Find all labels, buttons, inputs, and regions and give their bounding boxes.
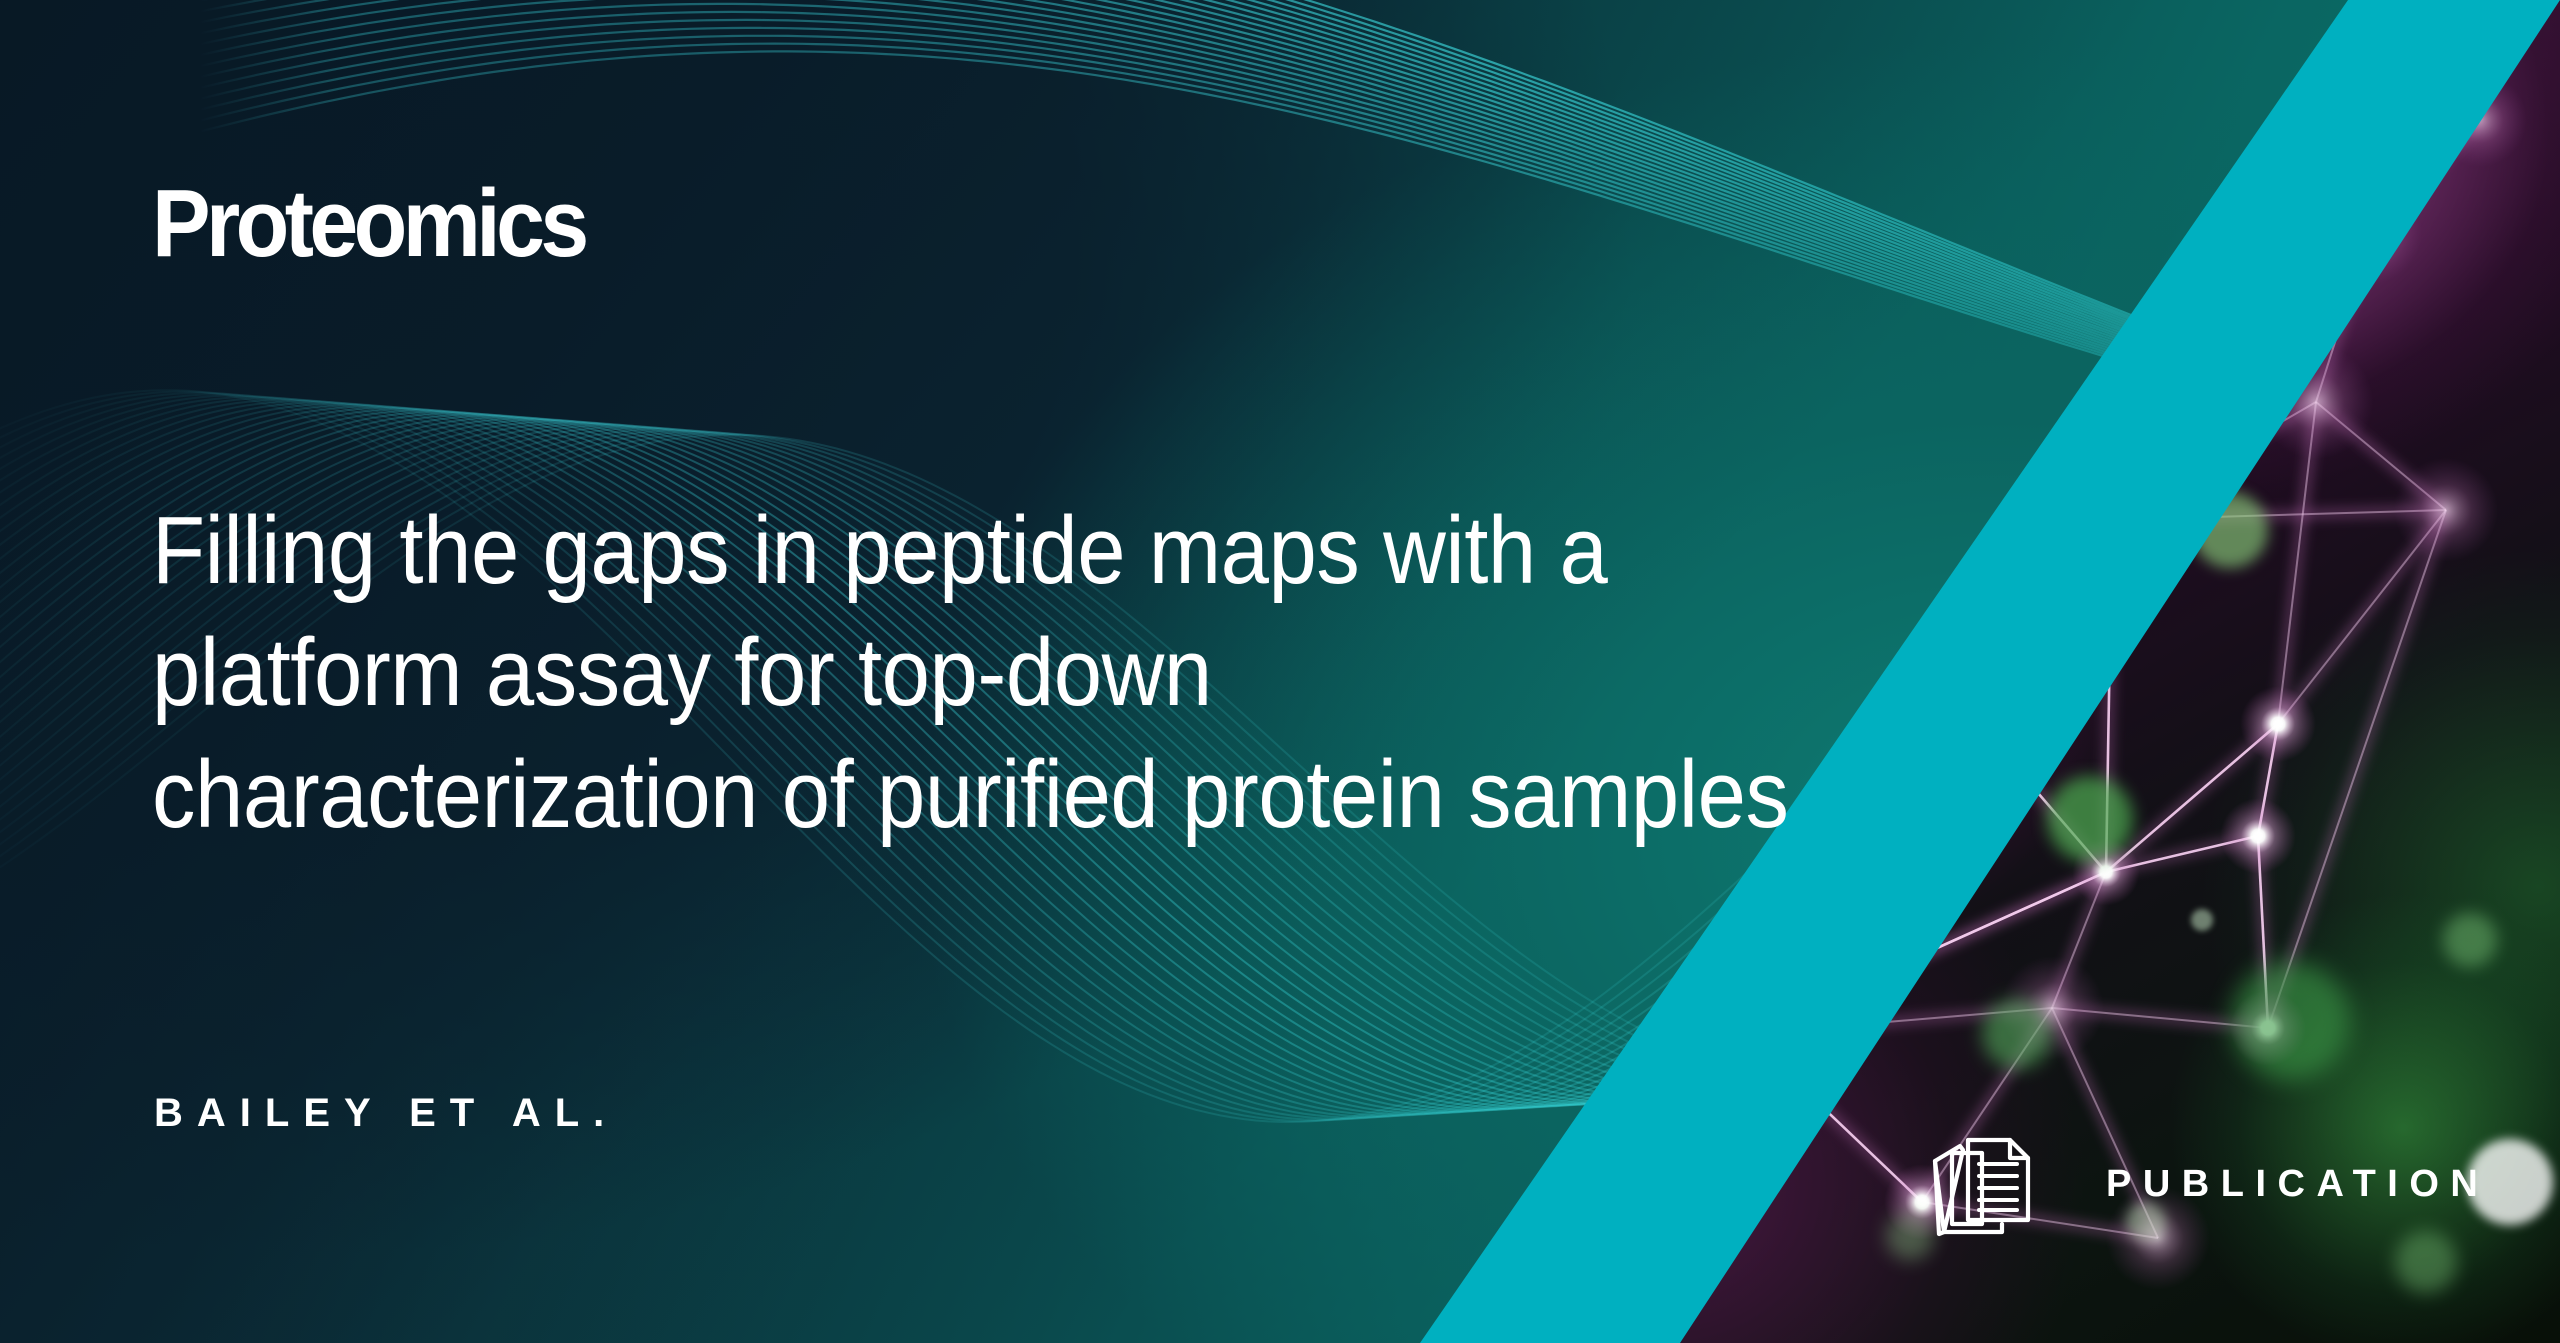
publication-badge: PUBLICATION xyxy=(1930,1128,2489,1240)
authors-label: BAILEY ET AL. xyxy=(154,1093,618,1133)
title-line-3: characterization of purified protein sam… xyxy=(152,734,1835,856)
title-line-1: Filling the gaps in peptide maps with a xyxy=(152,490,1835,612)
publication-label: PUBLICATION xyxy=(2106,1165,2489,1203)
documents-stack-icon xyxy=(1930,1128,2036,1240)
publication-card: Proteomics Filling the gaps in peptide m… xyxy=(0,0,2560,1343)
title-line-2: platform assay for top-down xyxy=(152,612,1835,734)
journal-logo[interactable]: Proteomics xyxy=(152,176,585,272)
page-title: Filling the gaps in peptide maps with a … xyxy=(152,490,1835,856)
